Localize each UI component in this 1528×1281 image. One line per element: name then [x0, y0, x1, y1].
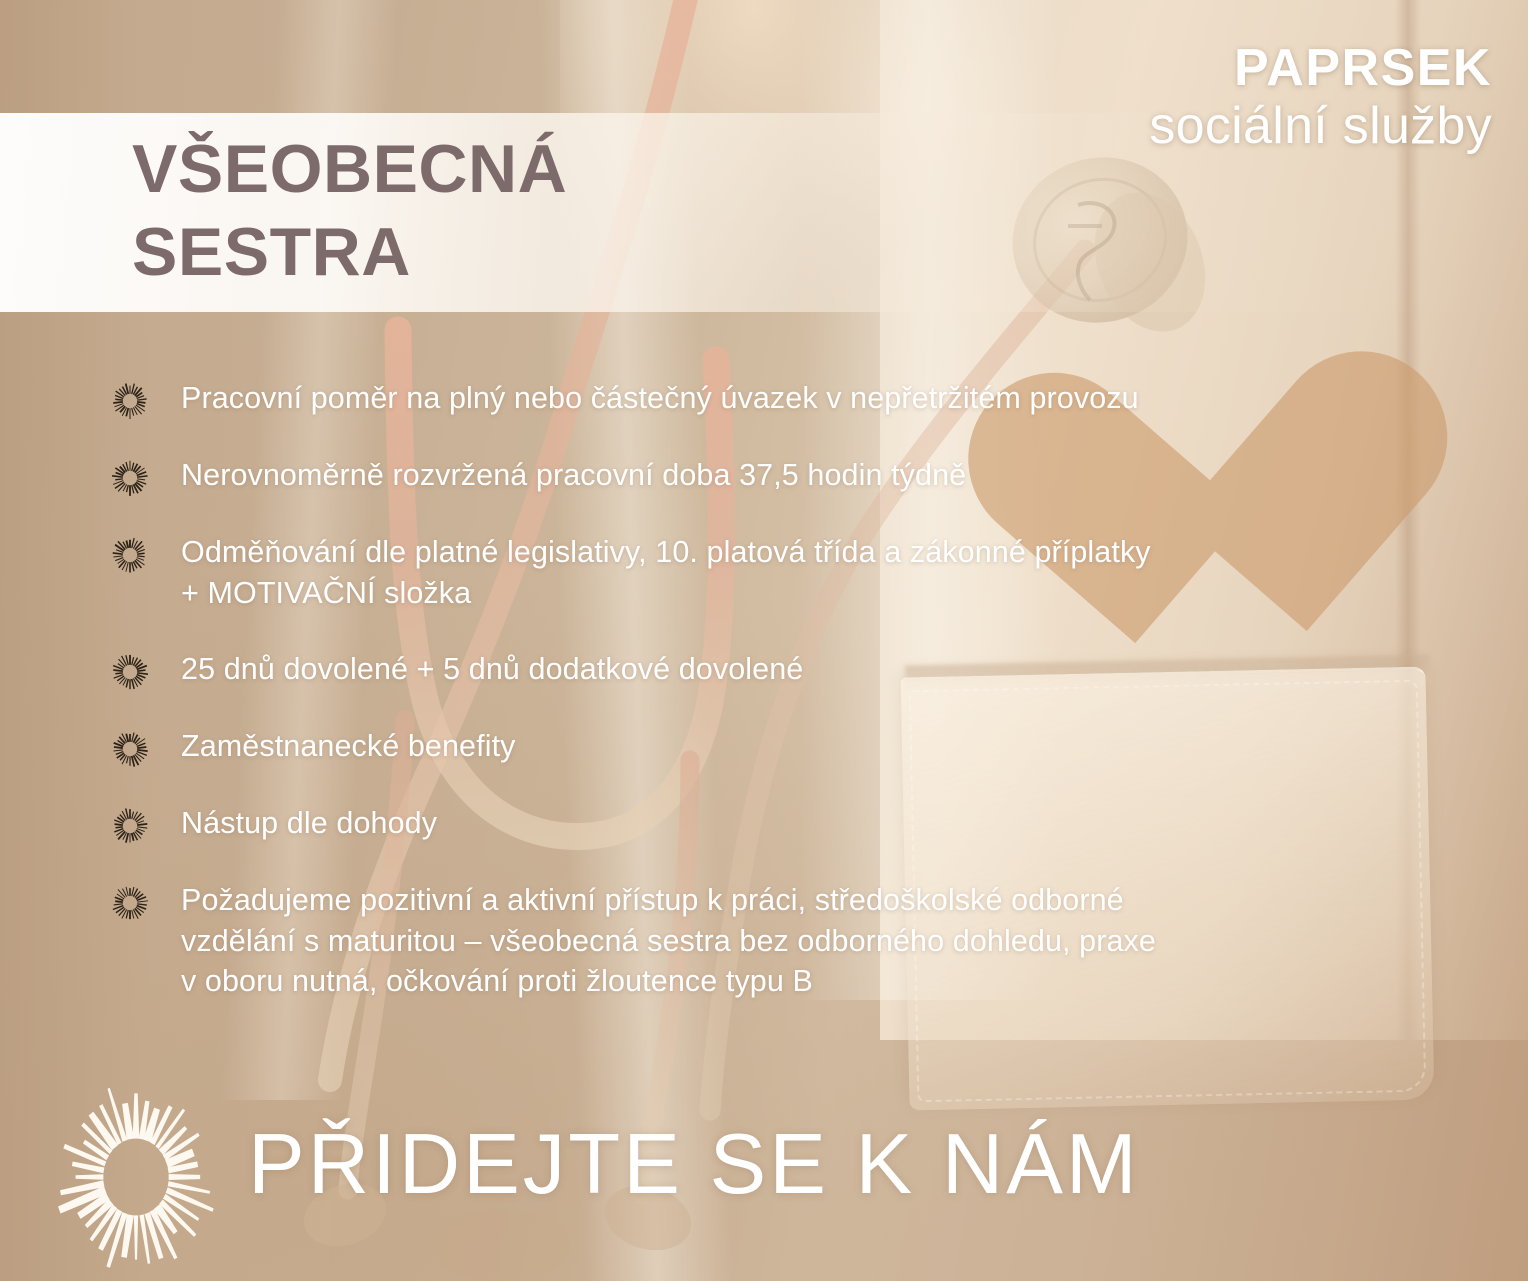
benefit-item-text: Nástup dle dohody	[181, 803, 437, 844]
poster: VŠEOBECNÁ SESTRA PAPRSEK sociální služby…	[0, 0, 1528, 1281]
benefit-item: Nástup dle dohody	[112, 803, 1452, 844]
benefit-item-text: Požadujeme pozitivní a aktivní přístup k…	[181, 880, 1156, 1002]
brand-block: PAPRSEK sociální služby	[1149, 42, 1492, 155]
sunburst-bullet-icon	[112, 808, 148, 844]
benefit-item-text: Zaměstnanecké benefity	[181, 726, 516, 767]
benefit-item: Požadujeme pozitivní a aktivní přístup k…	[112, 880, 1452, 1002]
brand-subtitle: sociální služby	[1149, 97, 1492, 155]
sunburst-bullet-icon	[112, 731, 148, 767]
sunburst-bullet-icon	[112, 885, 148, 921]
footer: PŘIDEJTE SE K NÁM	[40, 1081, 1140, 1273]
benefits-list: Pracovní poměr na plný nebo částečný úva…	[112, 378, 1452, 1002]
sunburst-bullet-icon	[112, 808, 148, 844]
sunburst-bullet-icon	[112, 460, 148, 496]
brand-name: PAPRSEK	[1149, 42, 1492, 95]
benefit-item-text: Odměňování dle platné legislativy, 10. p…	[181, 532, 1151, 613]
page-title: VŠEOBECNÁ SESTRA	[132, 128, 952, 294]
benefit-item: 25 dnů dovolené + 5 dnů dodatkové dovole…	[112, 649, 1452, 690]
benefit-item-text: Nerovnoměrně rozvržená pracovní doba 37,…	[181, 455, 966, 496]
sunburst-bullet-icon	[112, 537, 148, 573]
sunburst-bullet-icon	[112, 654, 148, 690]
benefit-item: Pracovní poměr na plný nebo částečný úva…	[112, 378, 1452, 419]
call-to-action: PŘIDEJTE SE K NÁM	[248, 1122, 1140, 1207]
sunburst-bullet-icon	[112, 383, 148, 419]
benefit-item-text: Pracovní poměr na plný nebo částečný úva…	[181, 378, 1139, 419]
benefit-item: Zaměstnanecké benefity	[112, 726, 1452, 767]
sunburst-bullet-icon	[112, 537, 148, 573]
paprsek-sunburst-logo	[40, 1081, 232, 1273]
sunburst-bullet-icon	[112, 654, 148, 690]
sunburst-bullet-icon	[112, 383, 148, 419]
benefit-item: Odměňování dle platné legislativy, 10. p…	[112, 532, 1452, 613]
sunburst-bullet-icon	[112, 731, 148, 767]
sunburst-bullet-icon	[112, 460, 148, 496]
benefit-item: Nerovnoměrně rozvržená pracovní doba 37,…	[112, 455, 1452, 496]
benefit-item-text: 25 dnů dovolené + 5 dnů dodatkové dovole…	[181, 649, 803, 690]
sunburst-bullet-icon	[112, 885, 148, 921]
